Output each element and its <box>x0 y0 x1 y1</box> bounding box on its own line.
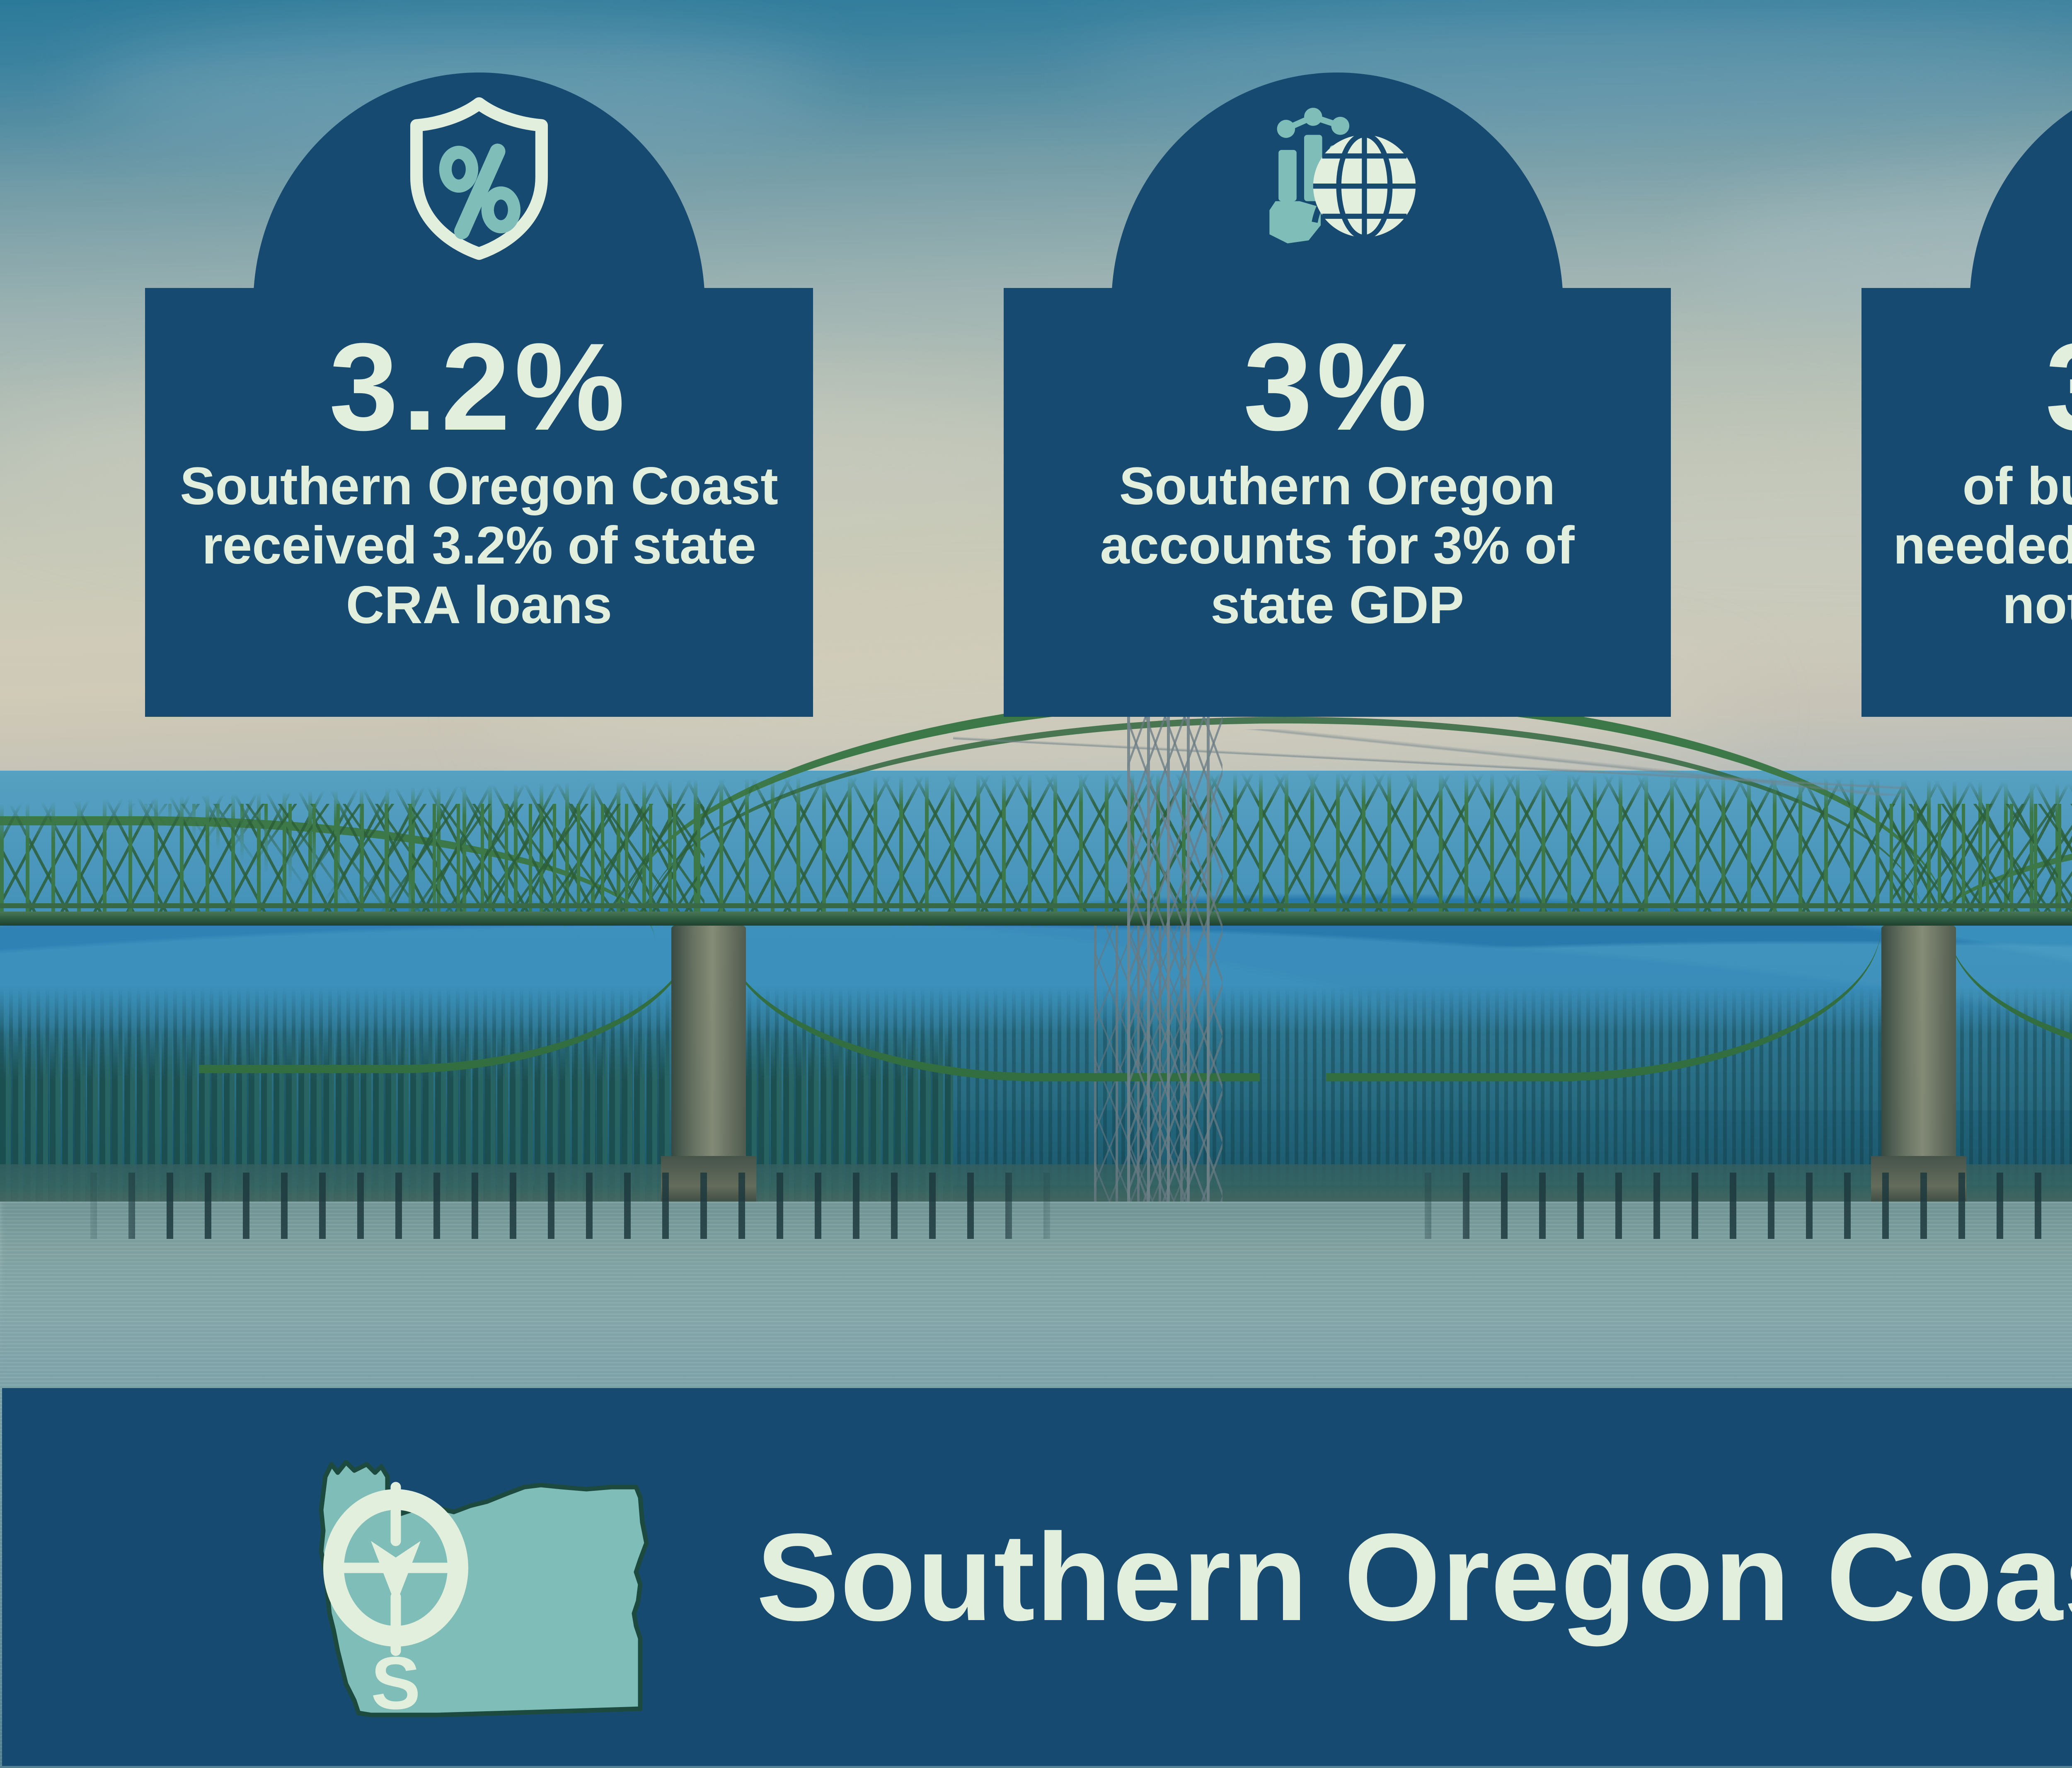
stat-value: 3% <box>1243 328 1431 446</box>
stat-label: Southern Oregon accounts for 3% of state… <box>1043 457 1631 635</box>
stat-card-body: 3.2% Southern Oregon Coast received 3.2%… <box>145 288 813 717</box>
globe-bar-chart-icon <box>1254 96 1420 264</box>
oregon-state-map-icon: S <box>309 1423 673 1732</box>
stat-card-financing: $ 3.5% of businesses that needed financi… <box>1861 73 2072 717</box>
stat-card-dome <box>1111 73 1563 305</box>
stat-card-state-gdp: 3% Southern Oregon accounts for 3% of st… <box>1004 73 1671 717</box>
stat-value: 3.5% <box>2045 328 2072 446</box>
shield-percent-icon <box>400 96 558 264</box>
stat-card-cra-loans: 3.2% Southern Oregon Coast received 3.2%… <box>145 73 813 717</box>
stat-label: of businesses that needed financing chos… <box>1878 457 2072 694</box>
stat-label: Southern Oregon Coast received 3.2% of s… <box>177 457 782 635</box>
svg-text:S: S <box>371 1642 421 1725</box>
stat-card-body: 3% Southern Oregon accounts for 3% of st… <box>1004 288 1671 717</box>
stat-card-dome: $ <box>1970 73 2072 305</box>
stat-card-body: 3.5% of businesses that needed financing… <box>1861 288 2072 717</box>
banner-title: Southern Oregon Coast <box>756 1505 2072 1649</box>
stat-card-dome <box>253 73 705 305</box>
stat-value: 3.2% <box>329 328 629 446</box>
bottom-banner: S Southern Oregon Coast <box>2 1388 2072 1766</box>
